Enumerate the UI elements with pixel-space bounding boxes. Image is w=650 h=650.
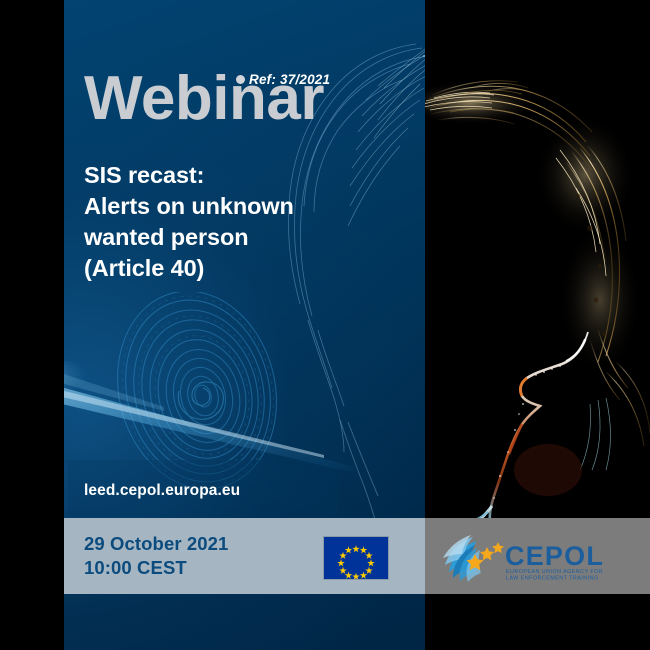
headline-line-4: (Article 40): [84, 253, 414, 284]
reference-number: Ref: 37/2021: [249, 72, 330, 87]
website-url[interactable]: leed.cepol.europa.eu: [84, 482, 240, 500]
european-union-flag-icon: [323, 536, 389, 580]
headline-line-1: SIS recast:: [84, 160, 414, 191]
cepol-logo-graphic: CEPOL EUROPEAN UNION AGENCY FOR LAW ENFO…: [439, 532, 639, 582]
event-date: 29 October 2021: [84, 532, 228, 556]
reference-badge: Ref: 37/2021: [236, 72, 330, 87]
webinar-subject: SIS recast: Alerts on unknown wanted per…: [84, 160, 414, 284]
event-datetime: 29 October 2021 10:00 CEST: [84, 532, 228, 580]
bullet-dot-icon: [236, 75, 245, 84]
cepol-tagline-line-1: EUROPEAN UNION AGENCY FOR: [506, 569, 603, 575]
event-details-band: 29 October 2021 10:00 CEST: [64, 518, 425, 594]
webinar-poster: Webinar Ref: 37/2021 SIS recast: Alerts …: [0, 0, 650, 650]
cepol-tagline-line-2: LAW ENFORCEMENT TRAINING: [506, 576, 598, 582]
cepol-logo-icon: CEPOL EUROPEAN UNION AGENCY FOR LAW ENFO…: [439, 532, 639, 582]
headline-line-2: Alerts on unknown: [84, 191, 414, 222]
cepol-wordmark: CEPOL: [505, 541, 604, 571]
webinar-heading-row: Webinar Ref: 37/2021: [84, 62, 324, 136]
event-time: 10:00 CEST: [84, 556, 228, 580]
headline-line-3: wanted person: [84, 222, 414, 253]
cepol-logo-band: CEPOL EUROPEAN UNION AGENCY FOR LAW ENFO…: [425, 518, 650, 594]
